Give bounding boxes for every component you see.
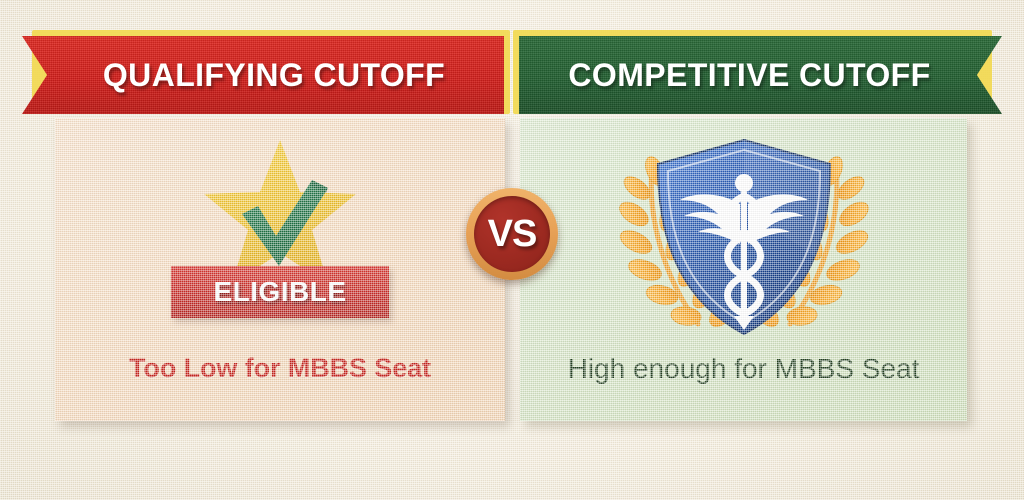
competitive-cutoff-caption: High enough for MBBS Seat	[520, 353, 967, 385]
eligible-badge-label: ELIGIBLE	[213, 276, 346, 308]
qualifying-cutoff-title: QUALIFYING CUTOFF	[81, 57, 445, 94]
eligible-status-badge: ELIGIBLE	[171, 266, 389, 318]
competitive-ribbon-group: COMPETITIVE CUTOFF	[519, 36, 1002, 114]
versus-badge-inner: VS	[474, 196, 550, 272]
competitive-cutoff-title: COMPETITIVE CUTOFF	[568, 57, 952, 94]
qualifying-cutoff-panel: ELIGIBLE Too Low for MBBS Seat	[55, 118, 505, 421]
versus-badge: VS	[466, 188, 558, 280]
competitive-cutoff-ribbon: COMPETITIVE CUTOFF	[519, 36, 1002, 114]
competitive-cutoff-panel: High enough for MBBS Seat	[520, 118, 967, 421]
versus-label: VS	[488, 213, 537, 256]
qualifying-cutoff-ribbon: QUALIFYING CUTOFF	[22, 36, 504, 114]
medical-shield-laurel-icon	[594, 134, 894, 346]
qualifying-cutoff-caption: Too Low for MBBS Seat	[55, 353, 505, 384]
infographic-canvas: ELIGIBLE Too Low for MBBS Seat	[0, 0, 1024, 500]
qualifying-ribbon-group: QUALIFYING CUTOFF	[22, 36, 504, 114]
